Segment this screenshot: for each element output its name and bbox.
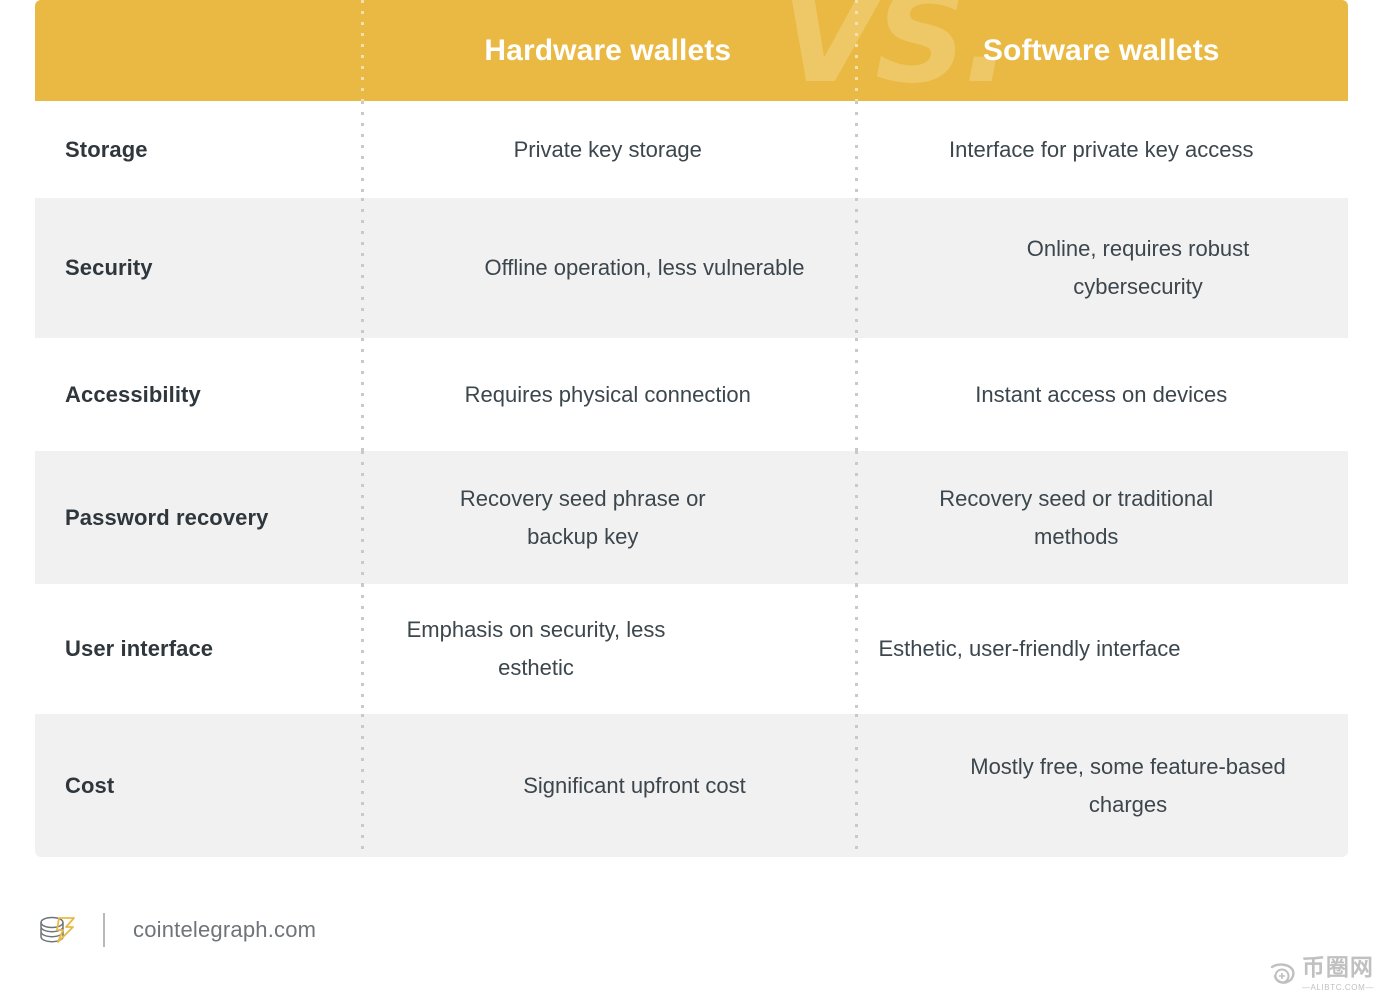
row-software-value: Online, requires robust cybersecurity	[928, 230, 1348, 306]
row-label: User interface	[35, 636, 361, 662]
table-row: Password recovery Recovery seed phrase o…	[35, 451, 1348, 584]
column-divider-left	[361, 451, 364, 584]
cointelegraph-logo-icon	[35, 908, 79, 952]
row-software-value: Interface for private key access	[855, 131, 1349, 169]
header-hardware-wallets: Hardware wallets	[361, 34, 855, 68]
table-header-row: VS. Hardware wallets Software wallets	[35, 0, 1348, 101]
table-row: User interface Emphasis on security, les…	[35, 584, 1348, 714]
row-hardware-value: Significant upfront cost	[361, 767, 908, 805]
row-label: Security	[35, 255, 361, 281]
watermark-logo-icon	[1268, 960, 1298, 990]
row-label: Password recovery	[35, 505, 361, 531]
table-row: Accessibility Requires physical connecti…	[35, 338, 1348, 451]
column-divider-right	[855, 451, 858, 584]
row-software-value: Instant access on devices	[855, 376, 1349, 414]
footer-divider	[103, 913, 105, 947]
table-row: Security Offline operation, less vulnera…	[35, 198, 1348, 338]
watermark-text: 币圈网	[1302, 957, 1374, 980]
row-software-value: Recovery seed or traditional methods	[866, 480, 1286, 556]
comparison-table: VS. Hardware wallets Software wallets St…	[35, 0, 1348, 857]
header-software-wallets: Software wallets	[855, 34, 1349, 68]
corner-watermark: 币圈网 —ALIBTC.COM—	[1268, 957, 1374, 992]
row-hardware-value: Recovery seed phrase or backup key	[423, 480, 743, 556]
footer-url: cointelegraph.com	[133, 917, 316, 943]
row-software-value: Mostly free, some feature-based charges	[908, 748, 1348, 824]
row-label: Cost	[35, 773, 361, 799]
row-hardware-value: Requires physical connection	[361, 376, 855, 414]
row-hardware-value: Offline operation, less vulnerable	[361, 249, 928, 287]
table-row: Cost Significant upfront cost Mostly fre…	[35, 714, 1348, 857]
row-label: Accessibility	[35, 382, 361, 408]
row-hardware-value: Emphasis on security, less esthetic	[361, 611, 711, 687]
watermark-subtext: —ALIBTC.COM—	[1302, 983, 1374, 992]
comparison-infographic: VS. Hardware wallets Software wallets St…	[0, 0, 1382, 996]
row-label: Storage	[35, 137, 361, 163]
row-software-value: Esthetic, user-friendly interface	[711, 630, 1348, 668]
footer: cointelegraph.com	[35, 900, 316, 960]
table-row: Storage Private key storage Interface fo…	[35, 101, 1348, 198]
row-hardware-value: Private key storage	[361, 131, 855, 169]
